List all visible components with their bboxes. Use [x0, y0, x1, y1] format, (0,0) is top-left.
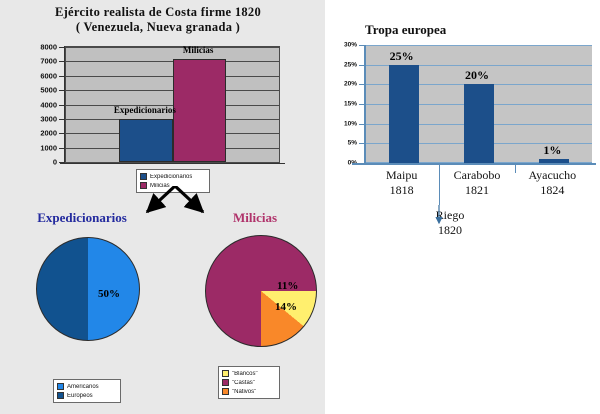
legend-item-expedicionarios: Expedicionarios	[140, 172, 206, 181]
right-chart-category-carabobo: Carabobo1821	[454, 168, 501, 198]
right-chart-category-separator	[515, 163, 516, 173]
right-chart-value-ayacucho: 1%	[543, 143, 561, 158]
left-chart-gridline	[66, 47, 279, 48]
category-year: 1824	[529, 183, 577, 198]
right-chart-bar-maipu	[389, 65, 419, 163]
left-chart-ytick-2000: 2000	[40, 129, 57, 138]
pie-milicias	[205, 235, 317, 347]
right-chart-ytick-25%: 25%	[344, 61, 357, 68]
right-chart-x-axis-line	[352, 163, 596, 165]
screenshot-root: Ejército realista de Costa firme 1820 ( …	[0, 0, 600, 414]
right-chart-annotation: Riego 1820	[395, 208, 505, 238]
pie-milicias-label-castas: 14%	[275, 301, 297, 313]
category-name: Maipu	[386, 168, 417, 183]
right-chart-ytick-30%: 30%	[344, 42, 357, 49]
legend-swatch-castas	[222, 379, 229, 386]
legend-swatch-americanos	[57, 383, 64, 390]
left-chart-ytick-1000: 1000	[40, 143, 57, 152]
right-chart-ytick-20%: 20%	[344, 81, 357, 88]
legend-swatch-expedicionarios	[140, 173, 147, 180]
left-chart-bar-milicias	[173, 59, 226, 163]
left-chart-ytick-4000: 4000	[40, 100, 57, 109]
pie-milicias-legend: "Blancos" "Castas" "Nativos"	[218, 366, 280, 399]
legend-item-americanos: Americanos	[57, 382, 117, 391]
legend-swatch-nativos	[222, 388, 229, 395]
left-chart-ytick-8000: 8000	[40, 43, 57, 52]
left-chart-ytick-6000: 6000	[40, 71, 57, 80]
pie-expedicionarios	[36, 237, 140, 341]
right-chart-value-carabobo: 20%	[465, 68, 489, 83]
legend-item-nativos: "Nativos"	[222, 387, 276, 396]
right-chart-gridline	[366, 45, 592, 46]
left-chart-ytick-5000: 5000	[40, 86, 57, 95]
annotation-arrow-icon	[429, 205, 449, 229]
legend-item-castas: "Castas"	[222, 378, 276, 387]
right-chart-ytick-5%: 5%	[348, 140, 357, 147]
category-name: Ayacucho	[529, 168, 577, 183]
category-name: Carabobo	[454, 168, 501, 183]
left-chart-bar-label-expedicionarios: Expedicionarios	[114, 105, 176, 115]
legend-item-europeos: Europeos	[57, 391, 117, 400]
right-chart-y-axis: 0%5%10%15%20%25%30%	[330, 45, 364, 165]
right-chart-category-separator	[439, 163, 440, 205]
right-chart-bar-carabobo	[464, 84, 494, 163]
legend-label-nativos: "Nativos"	[232, 389, 256, 395]
left-chart-bar-label-milicias: Milicias	[183, 45, 214, 55]
right-chart-ytick-10%: 10%	[344, 120, 357, 127]
left-chart-bar-expedicionarios	[119, 119, 172, 162]
category-year: 1821	[454, 183, 501, 198]
left-chart-title: Ejército realista de Costa firme 1820 ( …	[8, 5, 308, 35]
right-chart-category-maipu: Maipu1818	[386, 168, 417, 198]
pie-milicias-title: Milicias	[190, 210, 320, 226]
legend-label-americanos: Americanos	[67, 384, 99, 390]
legend-label-expedicionarios: Expedicionarios	[150, 174, 192, 180]
pie-expedicionarios-title: Expedicionarios	[12, 210, 152, 226]
legend-label-blancos: "Blancos"	[232, 371, 258, 377]
pie-expedicionarios-legend: Americanos Europeos	[53, 379, 121, 403]
category-year: 1818	[386, 183, 417, 198]
legend-label-europeos: Europeos	[67, 393, 93, 399]
left-chart-y-axis: 010002000300040005000600070008000	[0, 46, 65, 165]
left-chart-x-axis-line	[60, 163, 285, 164]
legend-label-castas: "Castas"	[232, 380, 255, 386]
left-chart-ytick-0: 0	[53, 158, 57, 167]
left-chart-title-line1: Ejército realista de Costa firme 1820	[8, 5, 308, 20]
pie-expedicionarios-label-50: 50%	[98, 288, 120, 300]
legend-swatch-europeos	[57, 392, 64, 399]
left-chart-ytick-3000: 3000	[40, 114, 57, 123]
legend-item-blancos: "Blancos"	[222, 369, 276, 378]
left-chart-ytick-7000: 7000	[40, 57, 57, 66]
legend-swatch-blancos	[222, 370, 229, 377]
right-chart-category-ayacucho: Ayacucho1824	[529, 168, 577, 198]
left-chart-title-line2: ( Venezuela, Nueva granada )	[8, 20, 308, 35]
right-chart-ytick-15%: 15%	[344, 101, 357, 108]
pie-milicias-label-blancos: 11%	[277, 280, 298, 292]
right-chart-title: Tropa europea	[365, 22, 446, 38]
right-chart-value-maipu: 25%	[390, 49, 414, 64]
